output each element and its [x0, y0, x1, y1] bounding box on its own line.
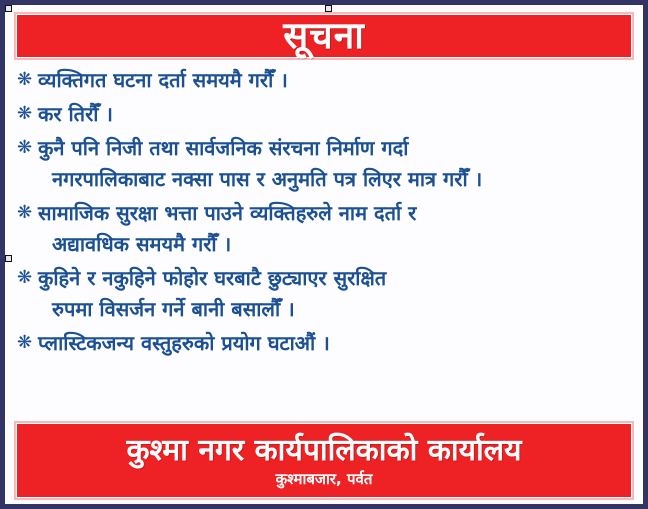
resize-handle-middle-left[interactable]: [5, 255, 12, 262]
resize-handle-top-center[interactable]: [325, 5, 332, 12]
list-item-text: कुनै पनि निजी तथा सार्वजनिक संरचना निर्म…: [38, 133, 644, 195]
header-banner: सूचना: [17, 15, 631, 57]
list-item-line: नगरपालिकाबाट नक्सा पास र अनुमति पत्र लिए…: [38, 164, 644, 195]
poster-title: सूचना: [283, 17, 365, 54]
poster-page: सूचना ❋ व्यक्तिगत घटना दर्ता समयमै गरौँ …: [5, 5, 643, 504]
list-item-text: कर तिरौँ ।: [38, 99, 644, 130]
list-item-line: कुनै पनि निजी तथा सार्वजनिक संरचना निर्म…: [38, 133, 644, 164]
header-banner-frame: सूचना: [14, 12, 634, 60]
list-item: ❋ सामाजिक सुरक्षा भत्ता पाउने व्यक्तिहरु…: [14, 198, 644, 260]
footer-banner: कुश्मा नगर कार्यपालिकाको कार्यालय कुश्मा…: [17, 424, 631, 497]
list-item-text: प्लास्टिकजन्य वस्तुहरुको प्रयोग घटाऔं ।: [38, 328, 644, 359]
footer-banner-frame: कुश्मा नगर कार्यपालिकाको कार्यालय कुश्मा…: [14, 421, 634, 500]
list-item: ❋ कर तिरौँ ।: [14, 99, 644, 130]
list-item-text: कुहिने र नकुहिने फोहोर घरबाटै छुट्याएर स…: [38, 263, 644, 325]
flower-bullet-icon: ❋: [14, 99, 38, 129]
list-item-line: अद्यावधिक समयमै गरौँ ।: [38, 229, 644, 260]
list-item-line: सामाजिक सुरक्षा भत्ता पाउने व्यक्तिहरुले…: [38, 198, 644, 229]
resize-handle-top-left[interactable]: [5, 5, 12, 12]
office-name: कुश्मा नगर कार्यपालिकाको कार्यालय: [126, 434, 521, 468]
flower-bullet-icon: ❋: [14, 328, 38, 358]
flower-bullet-icon: ❋: [14, 263, 38, 293]
list-item: ❋ कुहिने र नकुहिने फोहोर घरबाटै छुट्याएर…: [14, 263, 644, 325]
list-item: ❋ व्यक्तिगत घटना दर्ता समयमै गरौँ ।: [14, 65, 644, 96]
list-item: ❋ प्लास्टिकजन्य वस्तुहरुको प्रयोग घटाऔं …: [14, 328, 644, 359]
list-item-line: व्यक्तिगत घटना दर्ता समयमै गरौँ ।: [38, 65, 644, 96]
list-item-text: सामाजिक सुरक्षा भत्ता पाउने व्यक्तिहरुले…: [38, 198, 644, 260]
list-item-line: कर तिरौँ ।: [38, 99, 644, 130]
notice-poster[interactable]: सूचना ❋ व्यक्तिगत घटना दर्ता समयमै गरौँ …: [0, 0, 648, 509]
office-address: कुश्माबजार, पर्वत: [276, 471, 373, 488]
list-item-line: प्लास्टिकजन्य वस्तुहरुको प्रयोग घटाऔं ।: [38, 328, 644, 359]
flower-bullet-icon: ❋: [14, 65, 38, 95]
list-item: ❋ कुनै पनि निजी तथा सार्वजनिक संरचना निर…: [14, 133, 644, 195]
flower-bullet-icon: ❋: [14, 133, 38, 163]
flower-bullet-icon: ❋: [14, 198, 38, 228]
list-item-line: रुपमा विसर्जन गर्ने बानी बसालौँ ।: [38, 294, 644, 325]
notice-list: ❋ व्यक्तिगत घटना दर्ता समयमै गरौँ । ❋ कर…: [14, 65, 644, 415]
list-item-line: कुहिने र नकुहिने फोहोर घरबाटै छुट्याएर स…: [38, 263, 644, 294]
list-item-text: व्यक्तिगत घटना दर्ता समयमै गरौँ ।: [38, 65, 644, 96]
